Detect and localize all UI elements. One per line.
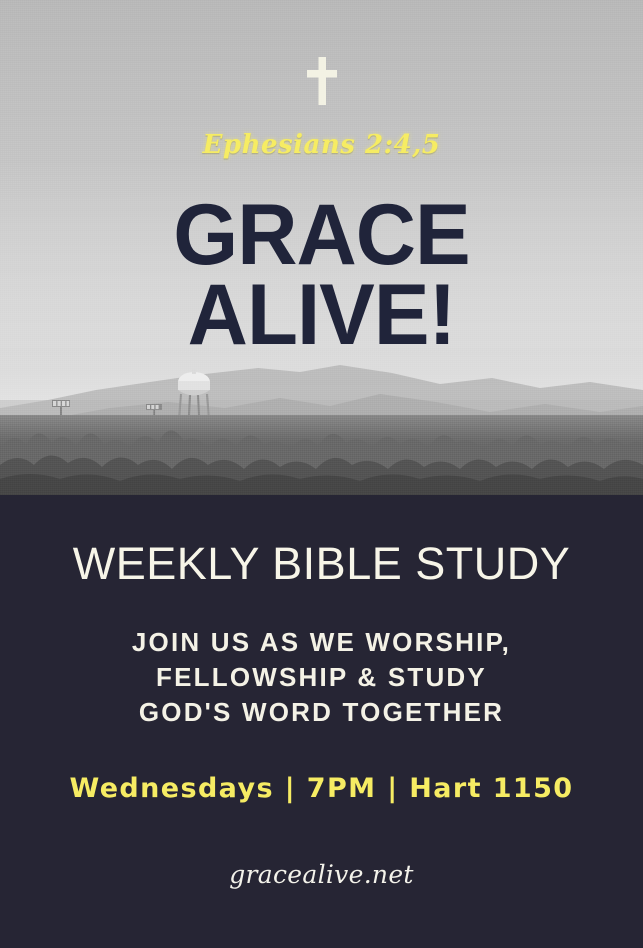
blurb-line-2: FELLOWSHIP & STUDY <box>0 660 643 695</box>
blurb-line-1: JOIN US AS WE WORSHIP, <box>0 625 643 660</box>
verse-reference: Ephesians 2:4,5 <box>0 130 643 160</box>
page-title: GRACE ALIVE! <box>10 196 634 356</box>
info-panel: WEEKLY BIBLE STUDY JOIN US AS WE WORSHIP… <box>0 495 643 948</box>
blurb-line-3: GOD'S WORD TOGETHER <box>0 695 643 730</box>
website-url[interactable]: gracealive.net <box>0 860 643 889</box>
study-title: WEEKLY BIBLE STUDY <box>0 538 643 590</box>
poster-canvas: Ephesians 2:4,5 GRACE ALIVE! WEEKLY BIBL… <box>0 0 643 948</box>
treeline <box>0 399 643 495</box>
study-description: JOIN US AS WE WORSHIP, FELLOWSHIP & STUD… <box>0 625 643 730</box>
cross-icon <box>0 57 643 105</box>
headline-line-2: ALIVE! <box>10 276 634 356</box>
headline-line-1: GRACE <box>10 196 634 276</box>
schedule-details: Wednesdays | 7PM | Hart 1150 <box>0 773 643 804</box>
